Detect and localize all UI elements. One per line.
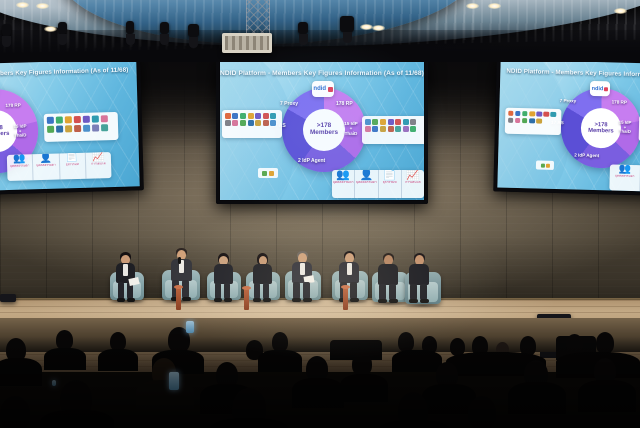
panelist-5 (288, 251, 319, 302)
recessed-downlight (372, 25, 385, 31)
panelist-shoe (224, 298, 232, 302)
microphone (178, 257, 181, 264)
panelist-shoe (263, 298, 271, 302)
panelist-8 (405, 253, 436, 303)
audience-area (0, 318, 640, 428)
panelist-leg (215, 283, 221, 299)
recessed-downlight (614, 8, 627, 14)
panelist-shoe (182, 297, 191, 301)
panelist-leg (263, 283, 269, 299)
panelist-torso (378, 264, 398, 285)
audience-darkening (0, 318, 640, 428)
panelist-shoe (253, 298, 261, 302)
panelist-shirt (347, 263, 352, 275)
center-screen-bezel (216, 58, 428, 204)
panelist-1 (112, 252, 142, 302)
recessed-downlight (488, 3, 501, 9)
recessed-downlight (16, 2, 29, 8)
lighting-truss (246, 0, 270, 34)
center-projection-screen: NDID Platform - Members Key Figures Info… (216, 58, 428, 204)
stage-spotlight (2, 24, 11, 36)
panelist-leg (379, 284, 386, 300)
stage-spotlight (126, 21, 134, 34)
right-projection-screen: NDID Platform - Members Key Figures Info… (493, 55, 640, 196)
panelist-leg (389, 284, 396, 300)
panelist-leg (254, 283, 260, 299)
panelist-2 (166, 248, 198, 302)
panelist-leg (224, 283, 230, 299)
side-table-1 (176, 288, 181, 310)
panelist-3 (210, 253, 239, 302)
panelist-shoe (303, 298, 312, 302)
auditorium-photo: NDID Platform - Members Key Figures Info… (0, 0, 640, 428)
panelist-leg (350, 282, 357, 299)
recessed-downlight (466, 3, 479, 9)
stage-spotlight (58, 22, 67, 34)
stage-spotlight (160, 22, 169, 34)
panelist-leg (410, 284, 417, 300)
recessed-downlight (36, 3, 49, 9)
panelist-leg (118, 282, 124, 299)
floor-monitor-left (0, 294, 16, 302)
panelist-shoe (214, 298, 222, 302)
stage-spotlight (340, 16, 354, 32)
panelist-shoe (127, 298, 135, 302)
panelist-shoe (389, 299, 398, 303)
panelist-torso (409, 264, 429, 285)
panelist-shoe (420, 299, 429, 303)
panelist-7 (374, 253, 405, 303)
ceiling-shadow (0, 30, 640, 62)
ceiling-projector (222, 33, 272, 53)
panelist-shoe (378, 299, 387, 303)
stage-spotlight (188, 24, 199, 37)
panelist-leg (303, 282, 310, 299)
stage-spotlight (298, 22, 308, 34)
panelist-leg (182, 280, 189, 298)
left-projection-screen: NDID Platform - Members Key Figures Info… (0, 55, 144, 196)
panelist-shirt (123, 264, 128, 276)
panelist-6 (335, 251, 366, 302)
recessed-downlight (44, 26, 57, 32)
panelist-shoe (292, 298, 301, 302)
panelist-4 (249, 253, 278, 302)
panelist-leg (420, 284, 427, 300)
panelist-notes (128, 277, 139, 286)
left-screen-bezel (0, 55, 144, 196)
panelist-leg (293, 282, 300, 299)
right-screen-bezel (493, 55, 640, 196)
panelist-shoe (117, 298, 125, 302)
panelist-shirt (300, 263, 305, 275)
panelist-shoe (350, 298, 359, 302)
side-table-3 (343, 288, 348, 310)
panelist-shoe (409, 299, 418, 303)
panelist-torso (253, 264, 272, 284)
auditorium-ceiling (0, 0, 640, 62)
panelist-torso (214, 264, 233, 284)
side-table-2 (244, 289, 249, 310)
